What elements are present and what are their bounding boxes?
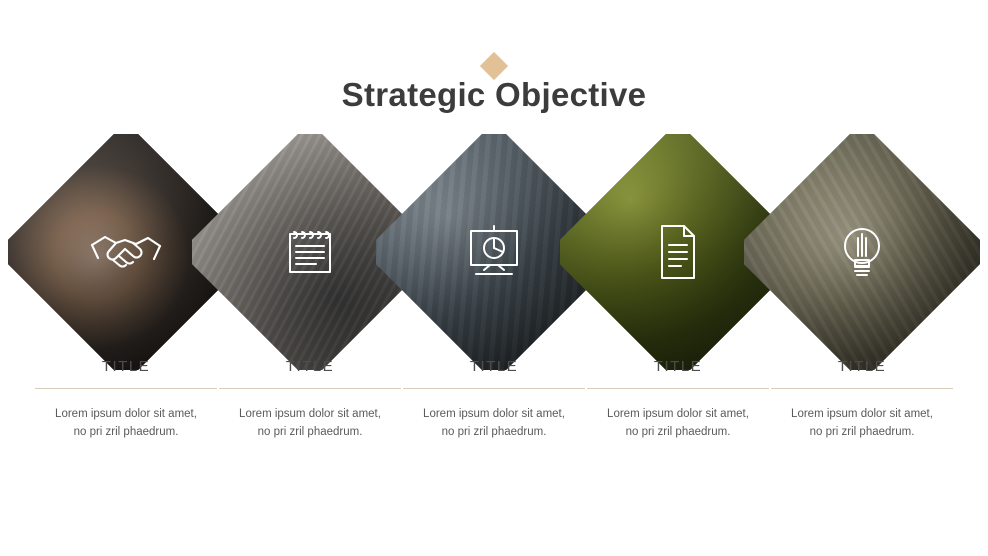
item-title: TITLE bbox=[586, 358, 770, 375]
item-body-line2: no pri zril phaedrum. bbox=[258, 426, 363, 438]
item-body-line1: Lorem ipsum dolor sit amet, bbox=[423, 408, 565, 420]
item-title: TITLE bbox=[218, 358, 402, 375]
item-divider bbox=[35, 388, 217, 389]
item-body: Lorem ipsum dolor sit amet, no pri zril … bbox=[28, 406, 224, 442]
item-body-line2: no pri zril phaedrum. bbox=[810, 426, 915, 438]
item-divider bbox=[219, 388, 401, 389]
item-body-line1: Lorem ipsum dolor sit amet, bbox=[239, 408, 381, 420]
item-body-line2: no pri zril phaedrum. bbox=[442, 426, 547, 438]
item-body-line2: no pri zril phaedrum. bbox=[74, 426, 179, 438]
item-body-line1: Lorem ipsum dolor sit amet, bbox=[607, 408, 749, 420]
page-title: Strategic Objective bbox=[0, 76, 988, 114]
item-body-line2: no pri zril phaedrum. bbox=[626, 426, 731, 438]
item-divider bbox=[403, 388, 585, 389]
item-title: TITLE bbox=[770, 358, 954, 375]
item-divider bbox=[587, 388, 769, 389]
item-body: Lorem ipsum dolor sit amet, no pri zril … bbox=[580, 406, 776, 442]
item-divider bbox=[771, 388, 953, 389]
diamond-5-photo bbox=[732, 122, 988, 382]
objective-item-5[interactable]: TITLE Lorem ipsum dolor sit amet, no pri… bbox=[770, 160, 954, 344]
slide-canvas: Strategic Objective TITLE bbox=[0, 0, 988, 556]
objective-row: TITLE Lorem ipsum dolor sit amet, no pri… bbox=[0, 160, 988, 540]
item-body-line1: Lorem ipsum dolor sit amet, bbox=[55, 408, 197, 420]
item-body: Lorem ipsum dolor sit amet, no pri zril … bbox=[212, 406, 408, 442]
item-body-line1: Lorem ipsum dolor sit amet, bbox=[791, 408, 933, 420]
diamond-5[interactable] bbox=[770, 160, 954, 344]
item-title: TITLE bbox=[34, 358, 218, 375]
item-body: Lorem ipsum dolor sit amet, no pri zril … bbox=[764, 406, 960, 442]
item-title: TITLE bbox=[402, 358, 586, 375]
item-body: Lorem ipsum dolor sit amet, no pri zril … bbox=[396, 406, 592, 442]
